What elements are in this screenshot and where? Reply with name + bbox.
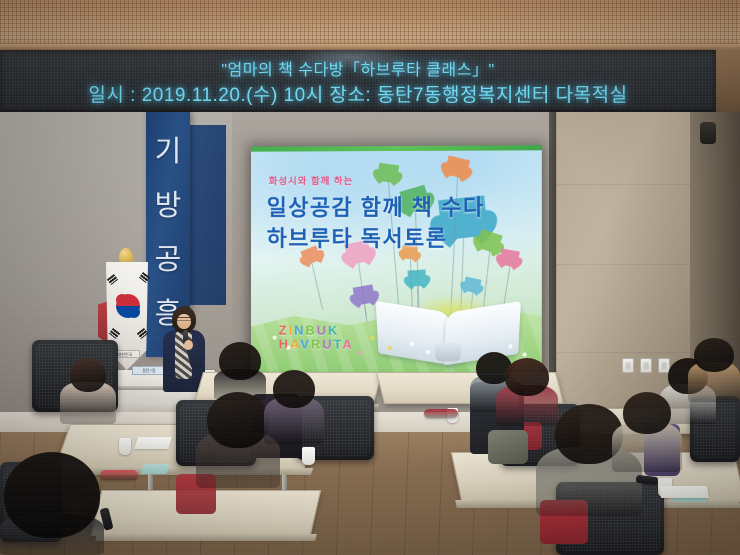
slide-sparkle	[370, 336, 374, 340]
audience-member-head	[694, 338, 734, 372]
audience-member-head	[273, 370, 315, 408]
logo-letter: R	[311, 337, 322, 352]
wall-speaker	[700, 122, 716, 144]
logo-letter: A	[290, 337, 300, 352]
lectern-name-plate: 동탄7동	[132, 366, 166, 375]
marquee-side-wall	[716, 50, 740, 112]
handbag	[488, 430, 528, 464]
logo-letter: T	[333, 337, 342, 352]
paper-cup	[119, 438, 131, 455]
audience-member	[214, 342, 266, 400]
pencil-case	[100, 470, 138, 480]
light-switch-plate[interactable]	[622, 358, 634, 373]
slide-title-line2: 하브루타 독서토론	[267, 221, 448, 253]
audience-member	[612, 392, 682, 472]
worksheet	[134, 437, 172, 449]
audience-member	[0, 452, 104, 555]
logo-letter: K	[328, 323, 339, 338]
slide-subtitle: 화성시와 함께 하는	[269, 173, 354, 187]
table-edge	[95, 534, 317, 541]
book-spine	[435, 343, 461, 361]
projection-slide: 화성시와 함께 하는 일상공감 함께 책 수다 하브루타 독서토론 ZINBUK…	[251, 145, 542, 373]
slide-sparkle	[426, 350, 430, 354]
logo-letter: U	[317, 323, 328, 338]
balloon-string	[364, 304, 367, 322]
audience-member	[688, 338, 740, 402]
banner-glyph-1: 기	[146, 128, 190, 170]
balloon-heart-icon	[499, 249, 520, 268]
logo-letter: N	[294, 323, 305, 338]
logo-letter: A	[342, 337, 353, 352]
audience-member-head	[219, 342, 261, 380]
glasses-icon	[177, 317, 191, 321]
logo-letter: V	[300, 337, 311, 352]
slide-sparkle	[410, 342, 414, 346]
audience-member	[60, 358, 116, 424]
logo-letter: B	[305, 323, 316, 338]
flag-finial-icon	[119, 248, 133, 264]
balloon-heart-icon	[353, 284, 376, 305]
worksheet	[659, 486, 709, 498]
audience-member	[264, 370, 324, 444]
slide-sparkle	[287, 346, 291, 350]
led-line-details: 일시 : 2019.11.20.(수) 10시 장소: 동탄7동행정복지센터 다…	[0, 80, 716, 107]
light-switch-plate[interactable]	[640, 358, 652, 373]
balloon-heart-icon	[444, 155, 470, 179]
balloon-heart-icon	[377, 163, 399, 184]
audience-member-head	[207, 392, 269, 448]
slide-logo-line1: ZINBUK	[279, 324, 354, 337]
banner-glyph-3: 공	[146, 236, 190, 278]
pencil-case	[424, 409, 458, 418]
slide-sparkle	[523, 353, 527, 357]
paper-cup	[302, 447, 315, 465]
slide-sparkle	[273, 336, 277, 340]
audience-member-head	[4, 452, 100, 538]
banner-glyph-2: 방	[146, 182, 190, 224]
led-line-title: "엄마의 책 수다방「하브루타 클래스」"	[0, 56, 716, 80]
audience-member-head	[623, 392, 671, 434]
slide-sparkle	[508, 344, 512, 348]
taeguk-symbol-icon	[116, 294, 140, 318]
logo-letter: Z	[279, 323, 289, 338]
photo-scene: "엄마의 책 수다방「하브루타 클래스」" 일시 : 2019.11.20.(수…	[0, 0, 740, 555]
led-marquee: "엄마의 책 수다방「하브루타 클래스」" 일시 : 2019.11.20.(수…	[0, 50, 716, 112]
secondary-blue-banner	[190, 125, 226, 305]
slide-sparkle	[388, 346, 392, 350]
slide-sparkle	[358, 351, 362, 355]
audience-member-head	[70, 358, 106, 392]
slide-title-line1: 일상공감 함께 책 수다	[267, 190, 485, 222]
audience-member-head	[505, 358, 549, 396]
logo-letter: U	[322, 337, 333, 352]
presenter-hand	[184, 340, 193, 350]
mint-note-card	[140, 464, 169, 474]
